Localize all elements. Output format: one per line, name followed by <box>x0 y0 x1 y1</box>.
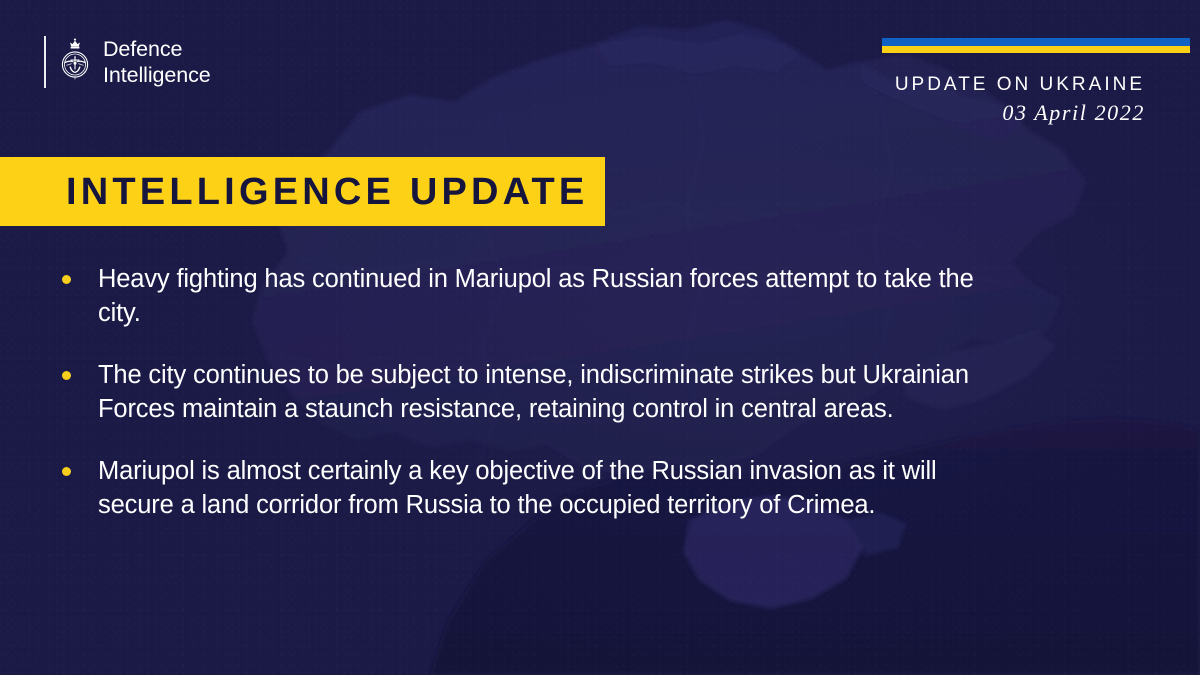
update-on-ukraine-title: UPDATE ON UKRAINE <box>895 72 1145 98</box>
list-item: Mariupol is almost certainly a key objec… <box>62 454 1072 522</box>
flag-yellow-stripe <box>882 46 1190 54</box>
royal-crest-icon <box>58 36 92 88</box>
banner-title: INTELLIGENCE UPDATE <box>0 173 588 211</box>
defence-intelligence-logo: Defence Intelligence <box>44 33 211 91</box>
update-date: 03 April 2022 <box>895 98 1145 127</box>
list-item: The city continues to be subject to inte… <box>62 358 1072 426</box>
logo-line-defence: Defence <box>103 36 211 62</box>
ukraine-flag-bar <box>882 38 1190 53</box>
bullet-list: Heavy fighting has continued in Mariupol… <box>62 262 1072 522</box>
bullet-dot-icon <box>62 275 71 284</box>
list-item: Heavy fighting has continued in Mariupol… <box>62 262 1072 330</box>
logo-line-intelligence: Intelligence <box>103 62 211 88</box>
bullet-text: Heavy fighting has continued in Mariupol… <box>98 262 1008 330</box>
logo-divider <box>44 36 46 88</box>
bullet-dot-icon <box>62 371 71 380</box>
bullet-text: Mariupol is almost certainly a key objec… <box>98 454 1008 522</box>
bullet-dot-icon <box>62 467 71 476</box>
bullet-text: The city continues to be subject to inte… <box>98 358 1008 426</box>
intelligence-update-poster: Defence Intelligence UPDATE ON UKRAINE 0… <box>0 0 1200 675</box>
flag-blue-stripe <box>882 38 1190 46</box>
logo-text: Defence Intelligence <box>103 36 211 88</box>
intelligence-update-banner: INTELLIGENCE UPDATE <box>0 157 605 226</box>
header-title-block: UPDATE ON UKRAINE 03 April 2022 <box>895 72 1145 127</box>
